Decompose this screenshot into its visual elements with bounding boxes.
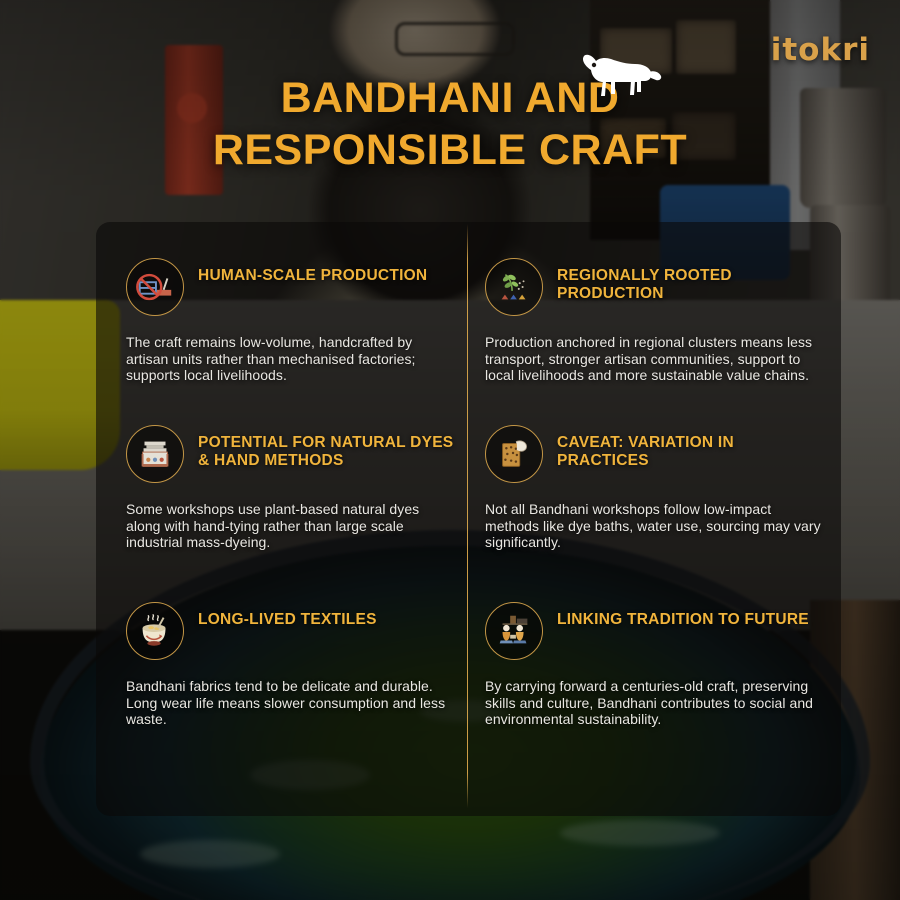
no-factory-machine-icon: [126, 258, 184, 316]
card-title: HUMAN-SCALE PRODUCTION: [198, 258, 427, 285]
card-header: CAVEAT: VARIATION IN PRACTICES: [485, 425, 823, 483]
card-body: Production anchored in regional clusters…: [485, 334, 823, 384]
card-header: LINKING TRADITION TO FUTURE: [485, 602, 823, 660]
card-body: The craft remains low-volume, handcrafte…: [126, 334, 456, 384]
two-seated-artisans-icon: [485, 602, 543, 660]
card-body: By carrying forward a centuries-old craf…: [485, 678, 823, 728]
steaming-dye-pot-icon: [126, 602, 184, 660]
cow-mark-icon: [575, 50, 665, 108]
card-caveat-variation-in-practices: CAVEAT: VARIATION IN PRACTICES Not all B…: [485, 425, 823, 551]
card-header: REGIONALLY ROOTED PRODUCTION: [485, 258, 823, 316]
page-title: BANDHANI AND RESPONSIBLE CRAFT: [0, 72, 900, 176]
hand-holding-patterned-fabric-icon: [485, 425, 543, 483]
plant-sprout-dye-mounds-icon: [485, 258, 543, 316]
card-body: Some workshops use plant-based natural d…: [126, 501, 456, 551]
card-header: POTENTIAL FOR NATURAL DYES & HAND METHOD…: [126, 425, 456, 483]
card-header: LONG-LIVED TEXTILES: [126, 602, 456, 660]
title-line-2: RESPONSIBLE CRAFT: [0, 124, 900, 176]
card-linking-tradition-to-future: LINKING TRADITION TO FUTURE By carrying …: [485, 602, 823, 728]
card-title: LONG-LIVED TEXTILES: [198, 602, 377, 629]
card-long-lived-textiles: LONG-LIVED TEXTILES Bandhani fabrics ten…: [126, 602, 456, 728]
card-natural-dyes-hand-methods: POTENTIAL FOR NATURAL DYES & HAND METHOD…: [126, 425, 456, 551]
card-body: Bandhani fabrics tend to be delicate and…: [126, 678, 456, 728]
card-human-scale-production: HUMAN-SCALE PRODUCTION The craft remains…: [126, 258, 456, 384]
card-title: CAVEAT: VARIATION IN PRACTICES: [557, 425, 823, 469]
workshop-building-icon: [126, 425, 184, 483]
card-header: HUMAN-SCALE PRODUCTION: [126, 258, 456, 316]
card-regionally-rooted-production: REGIONALLY ROOTED PRODUCTION Production …: [485, 258, 823, 384]
card-title: POTENTIAL FOR NATURAL DYES & HAND METHOD…: [198, 425, 456, 469]
column-divider: [467, 224, 468, 808]
card-title: REGIONALLY ROOTED PRODUCTION: [557, 258, 823, 302]
card-title: LINKING TRADITION TO FUTURE: [557, 602, 809, 629]
brand-logo[interactable]: itokri: [771, 32, 870, 68]
title-line-1: BANDHANI AND: [0, 72, 900, 124]
card-body: Not all Bandhani workshops follow low-im…: [485, 501, 823, 551]
